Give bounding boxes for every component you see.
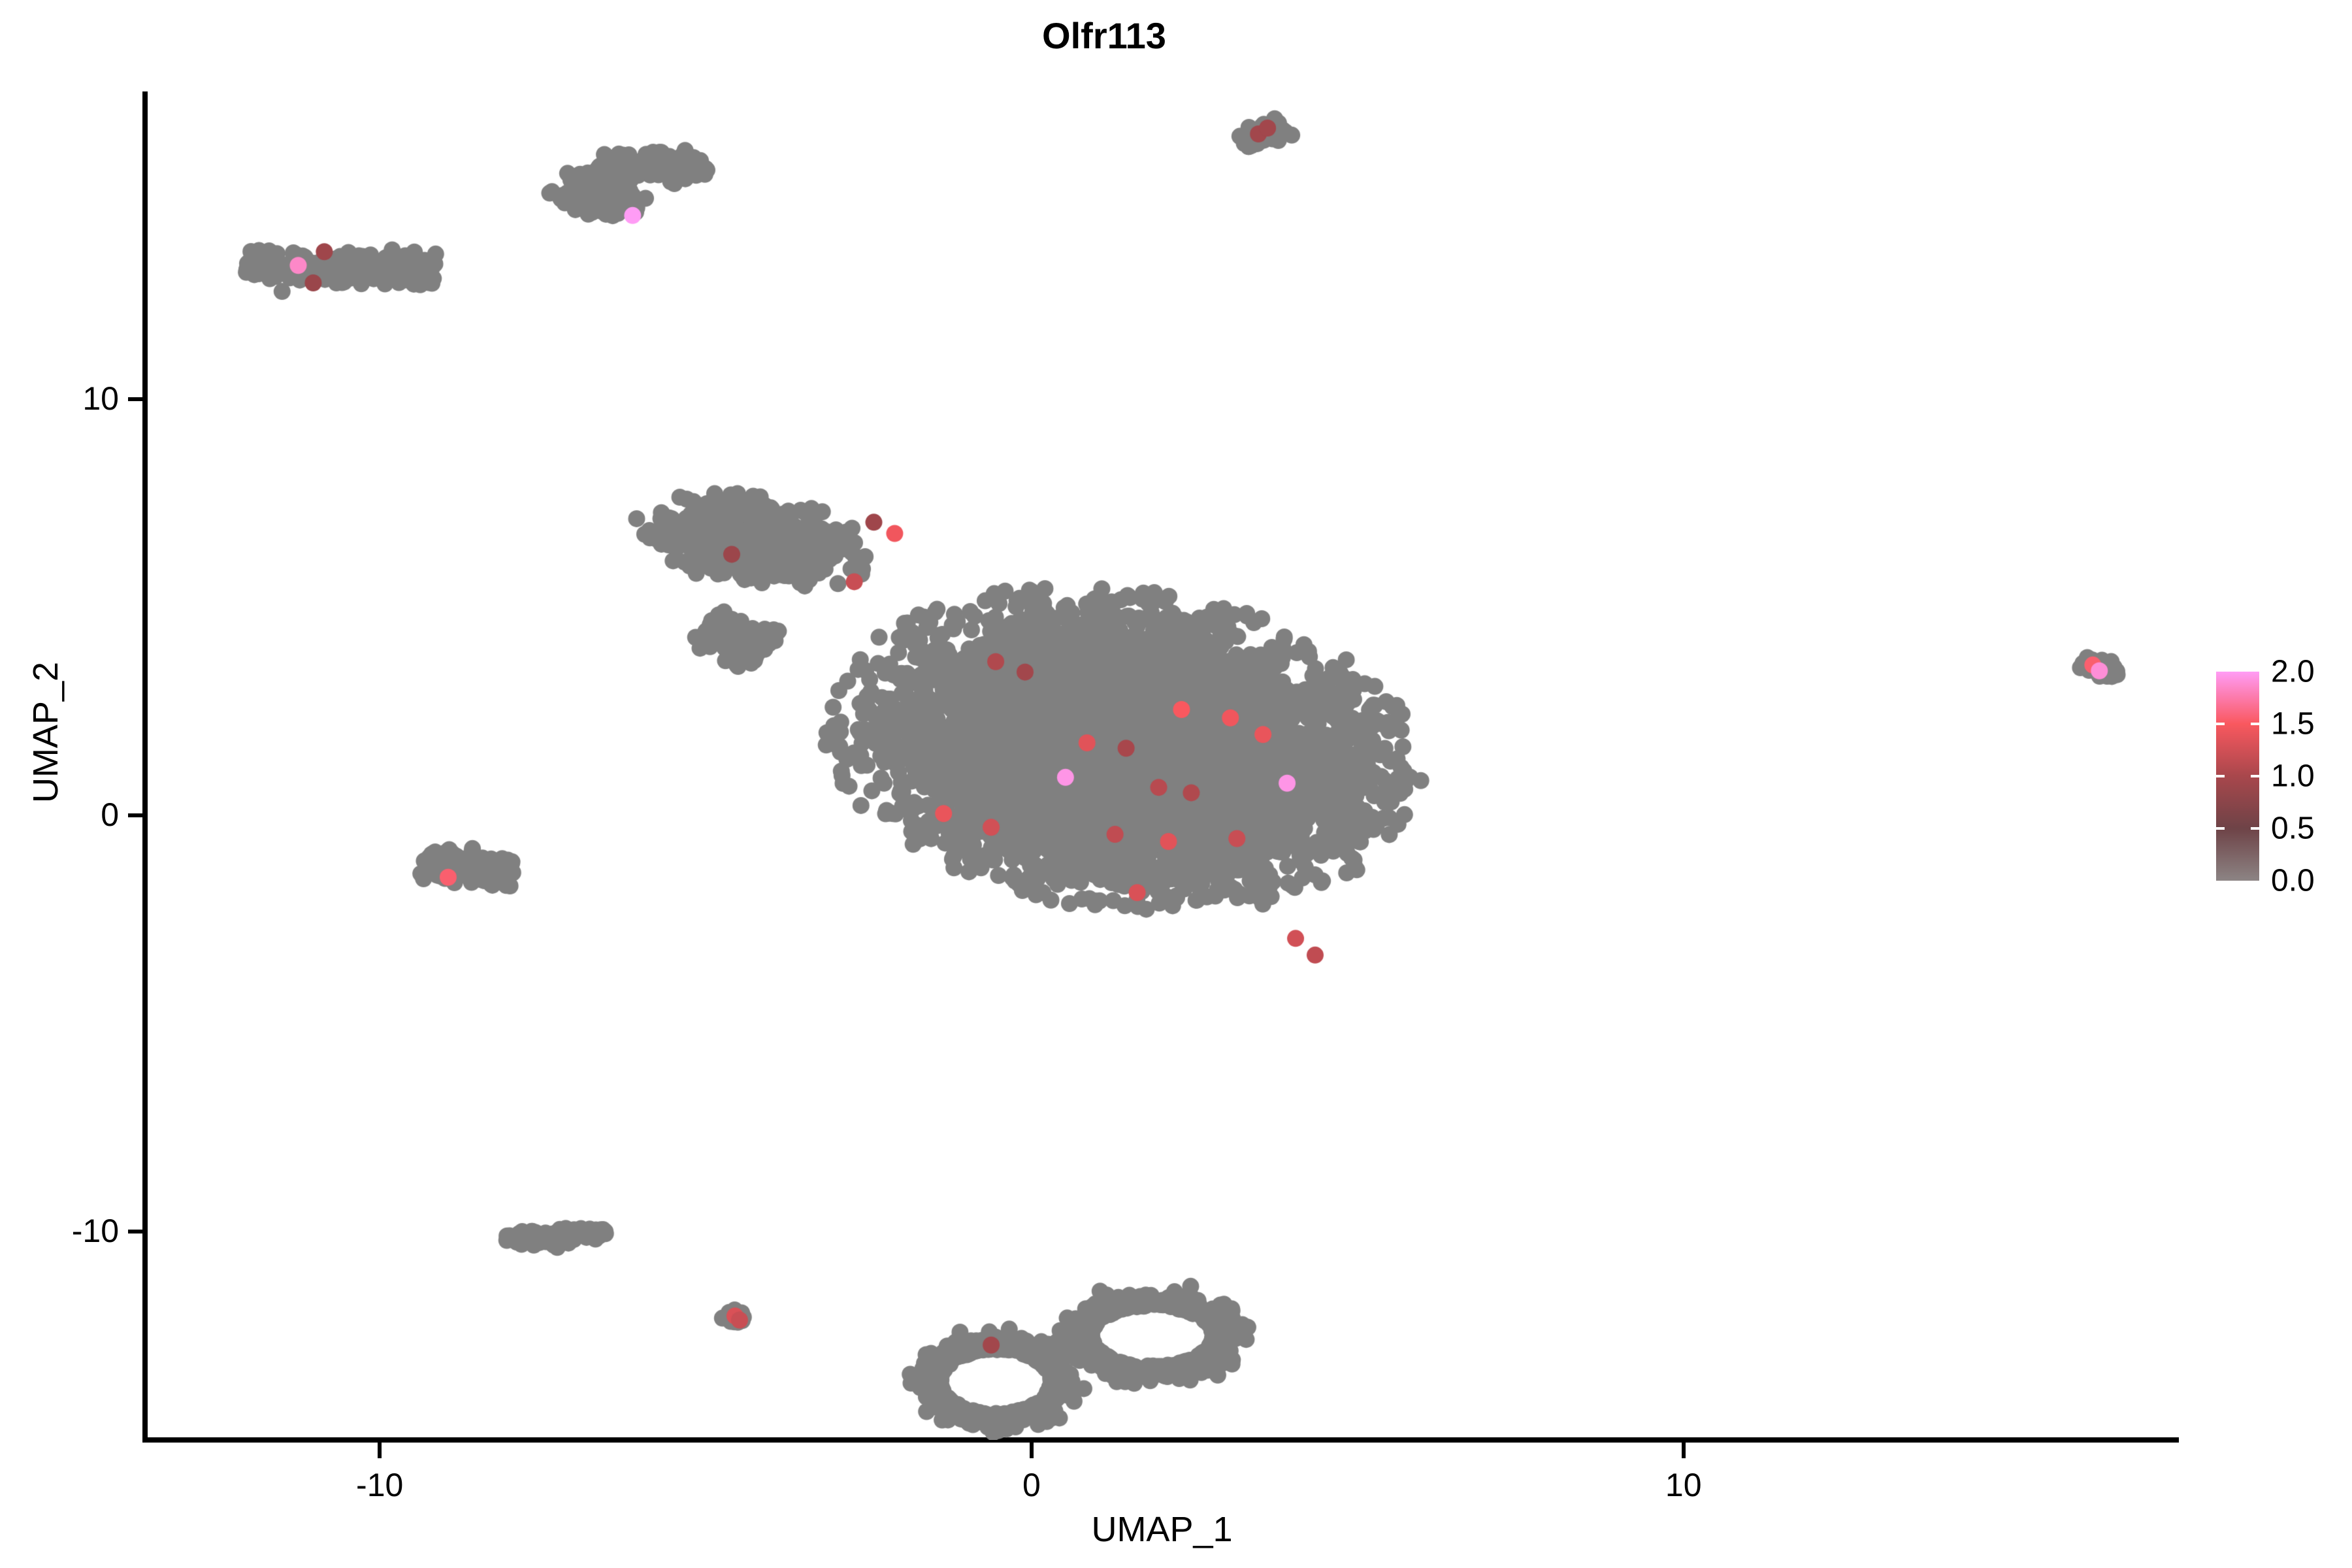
legend-tick-mark: [2251, 723, 2259, 725]
x-tick-mark: [378, 1441, 382, 1458]
y-tick-mark: [128, 1230, 145, 1233]
y-tick-mark: [128, 813, 145, 817]
x-tick-mark: [1030, 1441, 1034, 1458]
plot-panel: [145, 91, 2179, 1440]
y-axis-title: UMAP_2: [25, 602, 66, 863]
legend-tick-label: 0.0: [2271, 863, 2315, 899]
legend-tick-label: 0.5: [2271, 811, 2315, 847]
legend-tick-label: 1.0: [2271, 759, 2315, 794]
y-tick-label: 0: [101, 796, 119, 834]
x-axis-title: UMAP_1: [145, 1509, 2179, 1550]
page-title: Olfr113: [0, 14, 2208, 57]
legend-tick-mark: [2216, 723, 2225, 725]
legend-colorbar-group: 2.01.51.00.50.0: [2216, 668, 2347, 890]
x-tick-mark: [1682, 1441, 1686, 1458]
scatter-points-canvas: [145, 91, 2179, 1440]
legend-tick-mark: [2251, 827, 2259, 830]
legend-tick-mark: [2251, 775, 2259, 777]
y-tick-mark: [128, 397, 145, 401]
legend-tick-mark: [2216, 775, 2225, 777]
y-tick-label: 10: [82, 380, 119, 417]
legend-tick-mark: [2216, 827, 2225, 830]
legend-tick-label: 2.0: [2271, 654, 2315, 690]
x-tick-label: -10: [356, 1466, 403, 1504]
x-tick-label: 10: [1665, 1466, 1702, 1504]
x-tick-label: 0: [1022, 1466, 1041, 1504]
y-tick-label: -10: [72, 1212, 119, 1250]
legend-tick-label: 1.5: [2271, 706, 2315, 742]
umap-feature-plot: Olfr113 -10010100-10 UMAP_1 UMAP_2 2.01.…: [0, 0, 2352, 1568]
